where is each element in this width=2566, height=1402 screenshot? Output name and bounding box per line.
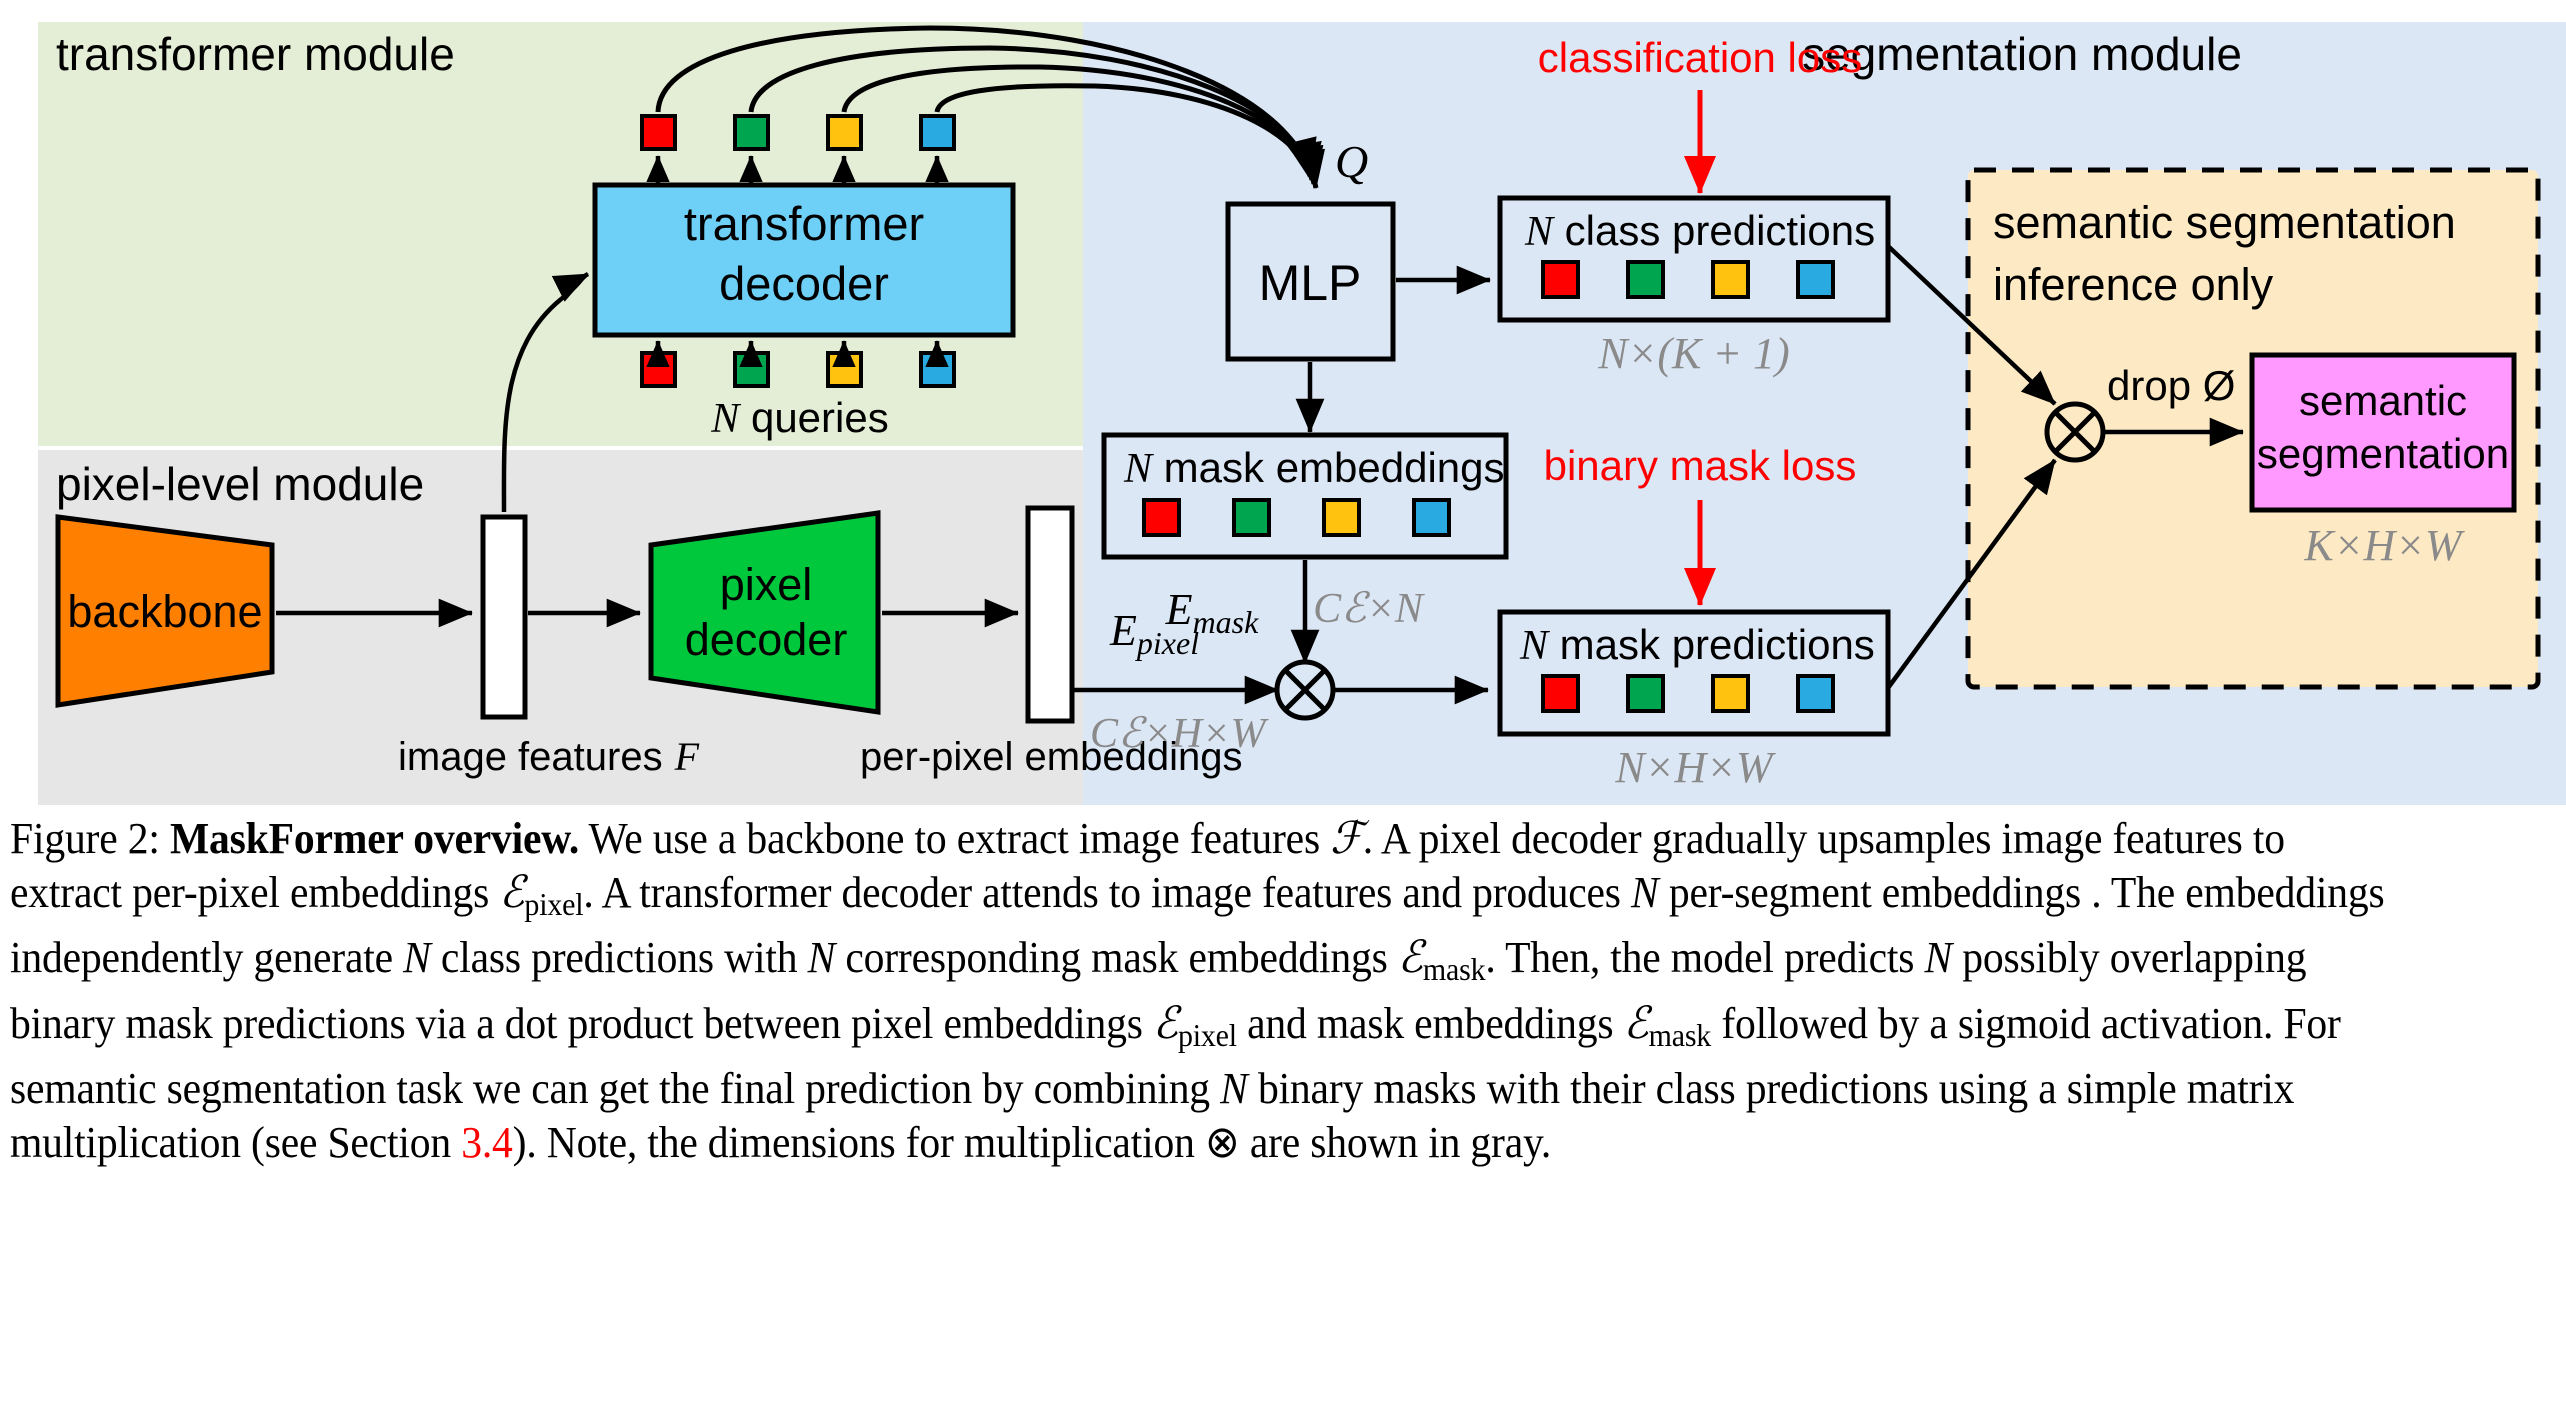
mask-embeddings-label: N mask embeddings bbox=[1123, 444, 1505, 492]
query-swatch-blue bbox=[921, 353, 954, 386]
mlp-label: MLP bbox=[1259, 255, 1362, 311]
inference-panel-label-line1: semantic segmentation bbox=[1993, 197, 2456, 248]
query-swatch-yellow bbox=[828, 353, 861, 386]
caption-sentence-14: are shown in gray. bbox=[1250, 1117, 1551, 1167]
caption-multiply-glyph: ⊗ bbox=[1205, 1117, 1240, 1167]
mask-pred-swatch-green bbox=[1628, 676, 1663, 711]
figure-caption: Figure 2: MaskFormer overview. We use a … bbox=[10, 812, 2391, 1169]
caption-sentence-3: . A transformer decoder attends to image… bbox=[583, 867, 1620, 917]
class-swatch-yellow bbox=[1713, 262, 1748, 297]
binary-mask-loss-label: binary mask loss bbox=[1544, 442, 1857, 489]
caption-sentence-6: class predictions with bbox=[441, 932, 797, 982]
q-symbol-label: Q bbox=[1335, 136, 1368, 187]
segmentation-module-label: segmentation module bbox=[1802, 28, 2242, 80]
backbone-label: backbone bbox=[67, 586, 262, 637]
transformer-module-label: transformer module bbox=[56, 28, 455, 80]
output-swatch-red bbox=[642, 116, 675, 149]
pixel-decoder-block[interactable] bbox=[651, 513, 878, 712]
output-swatch-yellow bbox=[828, 116, 861, 149]
drop-phi-label: drop Ø bbox=[2107, 362, 2235, 409]
maskformer-architecture-diagram: transformer module pixel-level module se… bbox=[0, 0, 2566, 810]
query-swatch-green bbox=[735, 353, 768, 386]
multiply-operator-mask bbox=[1277, 662, 1333, 718]
ce-times-hw-dim-label: Cℰ×H×W bbox=[1090, 711, 1269, 757]
mask-emb-swatch-green bbox=[1234, 500, 1269, 535]
caption-symbol-n-4: N bbox=[1924, 932, 1952, 982]
query-swatch-red bbox=[642, 353, 675, 386]
caption-sentence-10: and mask embeddings bbox=[1247, 998, 1613, 1048]
class-predictions-label: N class predictions bbox=[1524, 207, 1875, 255]
caption-title: MaskFormer overview. bbox=[170, 813, 579, 863]
class-swatch-red bbox=[1543, 262, 1578, 297]
mask-emb-swatch-yellow bbox=[1324, 500, 1359, 535]
output-swatch-blue bbox=[921, 116, 954, 149]
class-predictions-dim-label: N×(K + 1) bbox=[1597, 329, 1789, 378]
ce-times-n-dim-label: Cℰ×N bbox=[1313, 586, 1425, 632]
caption-symbol-f: ℱ bbox=[1330, 813, 1363, 863]
mask-pred-swatch-yellow bbox=[1713, 676, 1748, 711]
caption-symbol-n-3: N bbox=[808, 932, 836, 982]
image-features-bar[interactable] bbox=[483, 517, 525, 717]
mask-predictions-label: N mask predictions bbox=[1519, 621, 1875, 669]
mask-pred-swatch-red bbox=[1543, 676, 1578, 711]
caption-symbol-n-5: N bbox=[1220, 1063, 1248, 1113]
caption-symbol-e-mask-1: ℰmask bbox=[1398, 932, 1485, 982]
caption-sentence-7: corresponding mask embeddings bbox=[845, 932, 1387, 982]
semantic-segmentation-label-line2: segmentation bbox=[2257, 430, 2509, 477]
pixel-decoder-label-line1: pixel bbox=[720, 559, 813, 610]
class-swatch-blue bbox=[1798, 262, 1833, 297]
classification-loss-label: classification loss bbox=[1538, 34, 1862, 81]
pixel-decoder-label-line2: decoder bbox=[685, 614, 848, 665]
mask-emb-swatch-red bbox=[1144, 500, 1179, 535]
transformer-decoder-label-line2: decoder bbox=[719, 257, 889, 310]
image-features-label: image featuresF bbox=[398, 734, 700, 779]
mask-predictions-dim-label: N×H×W bbox=[1614, 743, 1776, 792]
caption-symbol-n-1: N bbox=[1631, 867, 1659, 917]
caption-symbol-e-mask-2: ℰmask bbox=[1624, 998, 1711, 1048]
inference-panel-label-line2: inference only bbox=[1993, 259, 2274, 310]
caption-symbol-e-pixel-2: ℰpixel bbox=[1153, 998, 1237, 1048]
caption-symbol-e-pixel: ℰpixel bbox=[499, 867, 583, 917]
n-queries-label: N queries bbox=[710, 394, 888, 442]
semantic-segmentation-label-line1: semantic bbox=[2299, 377, 2467, 424]
caption-sentence-4: per-segment embeddings bbox=[1669, 867, 2081, 917]
caption-sentence-1: We use a backbone to extract image featu… bbox=[589, 813, 1320, 863]
semantic-segmentation-dim-label: K×H×W bbox=[2303, 521, 2465, 570]
mask-emb-swatch-blue bbox=[1414, 500, 1449, 535]
output-swatch-green bbox=[735, 116, 768, 149]
caption-sentence-13: ). Note, the dimensions for multiplicati… bbox=[513, 1117, 1195, 1167]
caption-figure-label: Figure 2: bbox=[10, 813, 160, 863]
caption-symbol-n-2: N bbox=[403, 932, 431, 982]
caption-section-link[interactable]: 3.4 bbox=[461, 1117, 512, 1167]
per-pixel-embeddings-bar[interactable] bbox=[1028, 508, 1072, 721]
figure-page: transformer module pixel-level module se… bbox=[0, 0, 2566, 1402]
mask-pred-swatch-blue bbox=[1798, 676, 1833, 711]
caption-sentence-8: . Then, the model predicts bbox=[1485, 932, 1914, 982]
transformer-decoder-label-line1: transformer bbox=[684, 197, 924, 250]
pixel-level-module-label: pixel-level module bbox=[56, 458, 424, 510]
class-swatch-green bbox=[1628, 262, 1663, 297]
multiply-operator-combine bbox=[2047, 404, 2103, 460]
